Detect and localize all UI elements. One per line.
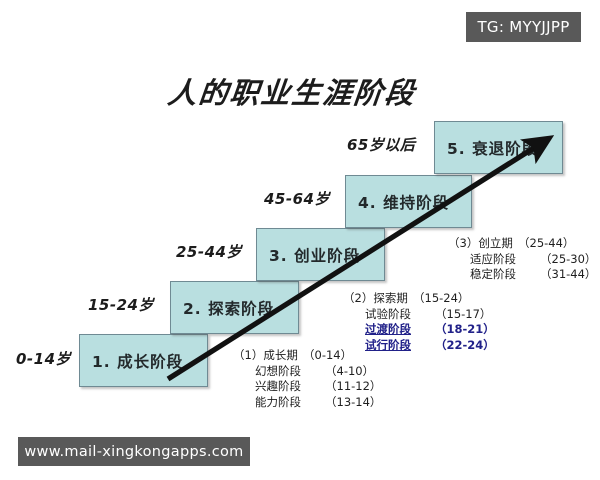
note-name: 适应阶段 xyxy=(470,252,540,268)
note-name: 过渡阶段 xyxy=(365,322,435,338)
stage-box-1: 1. 成长阶段 xyxy=(79,334,208,387)
stage-box-3: 3. 创业阶段 xyxy=(256,228,385,281)
note-range: （11-12） xyxy=(325,379,381,395)
note-name: 兴趣阶段 xyxy=(255,379,325,395)
note-name: 试验阶段 xyxy=(365,307,435,323)
note-block-establishment: （3）创立期 （25-44） 适应阶段 （25-30） 稳定阶段 （31-44） xyxy=(448,236,596,283)
note-row: 幻想阶段 （4-10） xyxy=(233,364,381,380)
note-range: （25-30） xyxy=(540,252,596,268)
age-label-stage-1: 0-14岁 xyxy=(16,348,71,369)
stage-box-1-label: 1. 成长阶段 xyxy=(80,350,183,372)
age-label-stage-3: 25-44岁 xyxy=(176,241,242,262)
stage-box-2-label: 2. 探索阶段 xyxy=(171,297,274,319)
note-row: （2）探索期 （15-24） xyxy=(343,291,495,307)
note-range: （18-21） xyxy=(435,322,495,338)
note-range: （4-10） xyxy=(325,364,374,380)
site-watermark-badge: www.mail-xingkongapps.com xyxy=(18,437,250,466)
stage-box-5: 5. 衰退阶段 xyxy=(434,121,563,174)
stage-box-2: 2. 探索阶段 xyxy=(170,281,299,334)
note-row: （3）创立期 （25-44） xyxy=(448,236,596,252)
note-row-highlighted: 过渡阶段 （18-21） xyxy=(343,322,495,338)
note-name: 稳定阶段 xyxy=(470,267,540,283)
note-row: 能力阶段 （13-14） xyxy=(233,395,381,411)
stage-box-3-label: 3. 创业阶段 xyxy=(257,244,360,266)
note-row: 适应阶段 （25-30） xyxy=(448,252,596,268)
note-block-growth: （1）成长期 （0-14） 幻想阶段 （4-10） 兴趣阶段 （11-12） 能… xyxy=(233,348,381,410)
age-label-stage-4: 45-64岁 xyxy=(264,188,330,209)
career-stages-infographic: TG: MYYJJPP 人的职业生涯阶段 0-14岁 15-24岁 25-44岁… xyxy=(0,0,600,480)
stage-box-5-label: 5. 衰退阶段 xyxy=(435,137,538,159)
note-row: 兴趣阶段 （11-12） xyxy=(233,379,381,395)
note-block-exploration: （2）探索期 （15-24） 试验阶段 （15-17） 过渡阶段 （18-21）… xyxy=(343,291,495,353)
note-row: 试验阶段 （15-17） xyxy=(343,307,495,323)
note-range: （15-17） xyxy=(435,307,491,323)
page-title: 人的职业生涯阶段 xyxy=(166,70,418,112)
note-name: （1）成长期 xyxy=(233,348,303,364)
stage-box-4: 4. 维持阶段 xyxy=(345,175,472,228)
age-label-stage-5: 65岁以后 xyxy=(347,134,415,155)
note-name: （2）探索期 xyxy=(343,291,413,307)
note-name: （3）创立期 xyxy=(448,236,518,252)
note-name: 能力阶段 xyxy=(255,395,325,411)
note-row-highlighted: 试行阶段 （22-24） xyxy=(343,338,495,354)
note-range: （15-24） xyxy=(413,291,469,307)
note-range: （31-44） xyxy=(540,267,596,283)
note-row: 稳定阶段 （31-44） xyxy=(448,267,596,283)
stage-box-4-label: 4. 维持阶段 xyxy=(346,191,449,213)
note-name: 幻想阶段 xyxy=(255,364,325,380)
note-range: （22-24） xyxy=(435,338,495,354)
tg-watermark-badge: TG: MYYJJPP xyxy=(466,12,581,42)
note-range: （13-14） xyxy=(325,395,381,411)
note-name: 试行阶段 xyxy=(365,338,435,354)
age-label-stage-2: 15-24岁 xyxy=(88,294,154,315)
note-range: （25-44） xyxy=(518,236,574,252)
